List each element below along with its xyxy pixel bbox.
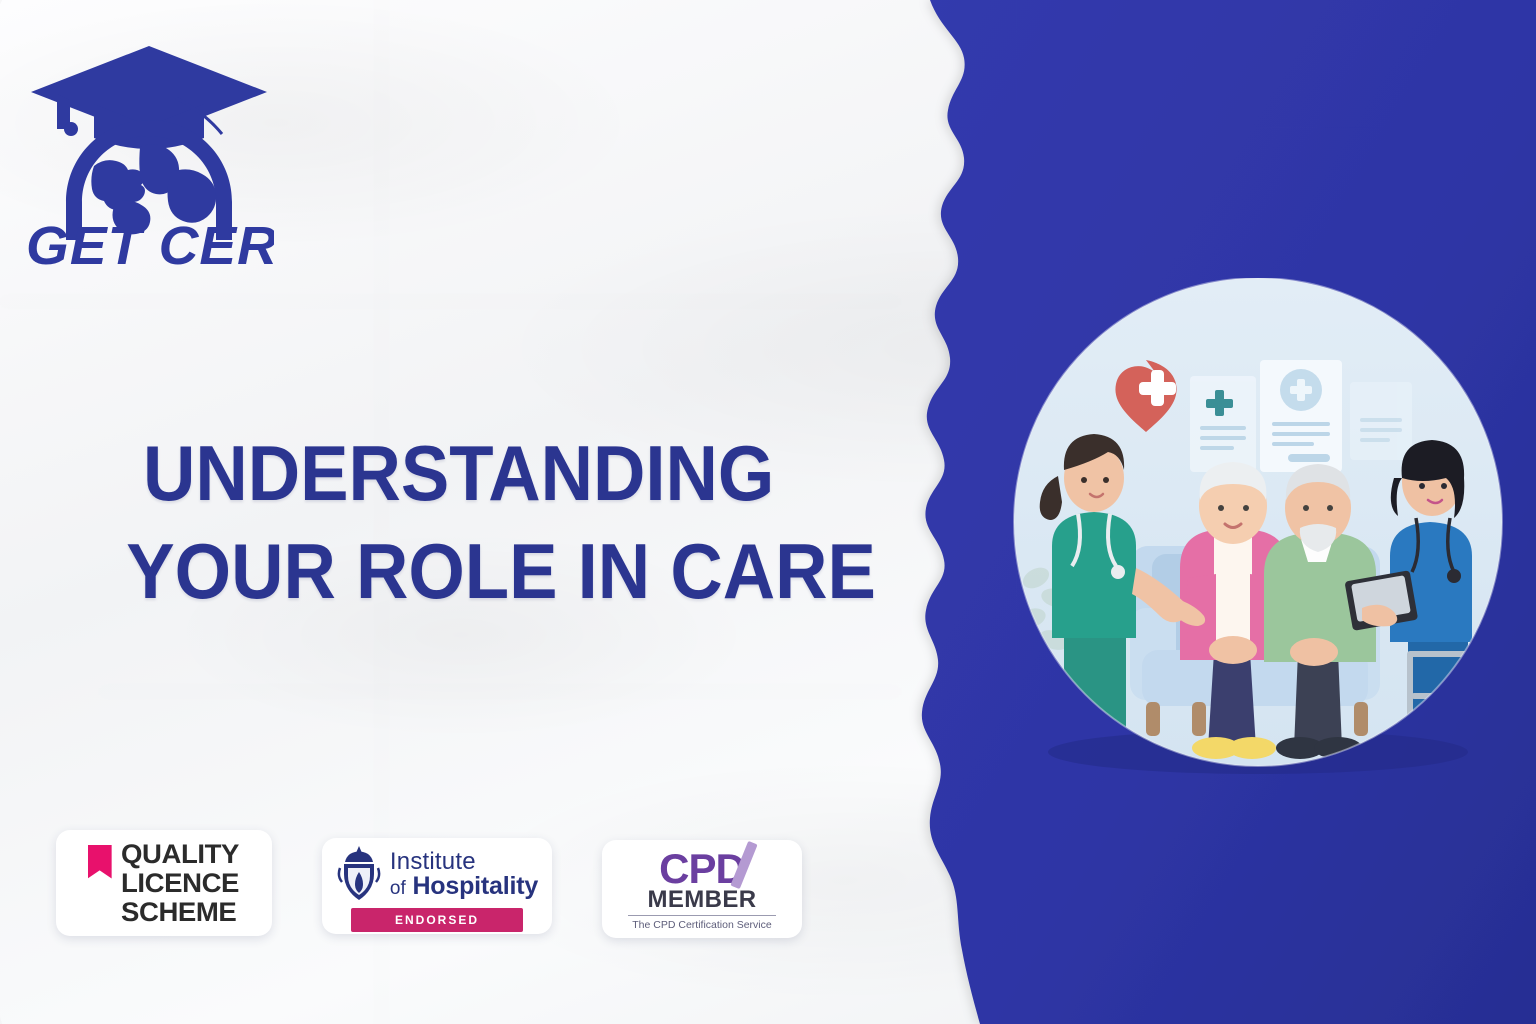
badge-qls-text: QUALITY LICENCE SCHEME [121,840,239,927]
medical-poster [1260,360,1342,472]
title-line-1: UNDERSTANDING [143,424,794,522]
ioh-of: of [390,878,406,899]
logo-wordmark: GET CERTIFY [26,215,274,266]
qls-line-2: LICENCE [121,868,239,898]
badge-quality-licence-scheme[interactable]: QUALITY LICENCE SCHEME [56,830,272,936]
cpd-logo-text: CPD [659,848,745,890]
ioh-line-1: Institute [390,848,476,875]
qls-line-3: SCHEME [121,897,236,927]
cpd-subtitle: The CPD Certification Service [632,919,771,931]
badge-ioh-text: Institute of Hospitality [390,850,538,899]
ioh-endorsed-banner: ENDORSED [351,908,523,932]
cpd-divider [628,915,776,916]
poster-canvas: GET CERTIFY UNDERSTANDING YOUR ROLE IN C… [0,0,1536,1024]
qls-line-1: QUALITY [121,839,239,869]
get-certify-logo[interactable]: GET CERTIFY [24,34,274,266]
bookmark-ribbon-icon [88,845,112,879]
title-line-2: YOUR ROLE IN CARE [126,522,794,620]
ioh-line-2: Hospitality [412,872,538,900]
accreditation-badges: QUALITY LICENCE SCHEME [56,830,802,938]
badge-cpd-member[interactable]: CPD MEMBER The CPD Certification Service [602,840,802,938]
page-title: UNDERSTANDING YOUR ROLE IN CARE [143,424,794,620]
badge-institute-of-hospitality[interactable]: Institute of Hospitality ENDORSED [322,838,552,934]
care-scene-illustration [1012,278,1504,778]
medical-poster [1350,382,1412,460]
heraldic-crest-icon [336,844,382,904]
medical-poster [1190,376,1256,472]
